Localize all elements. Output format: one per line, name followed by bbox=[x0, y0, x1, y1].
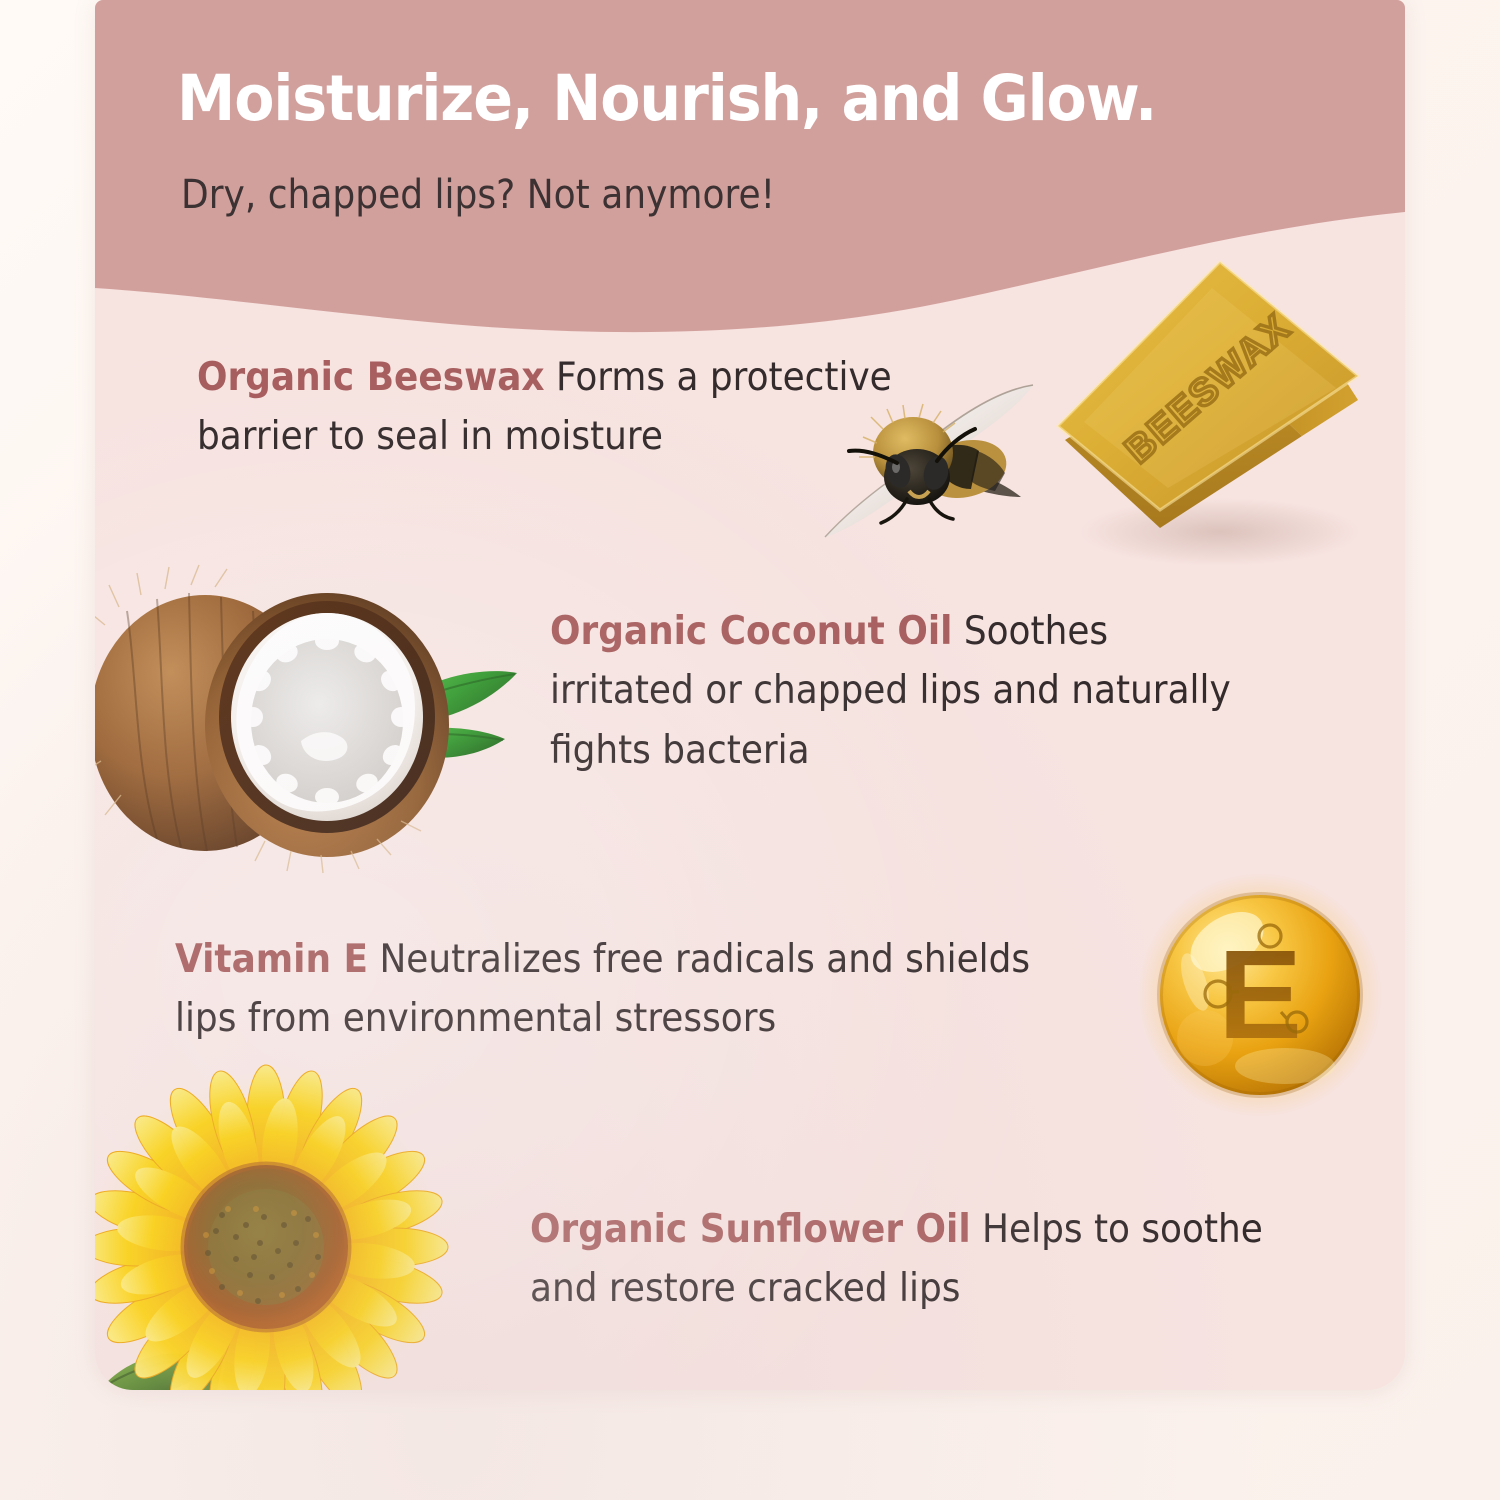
ingredient-beeswax-name: Organic Beeswax bbox=[197, 355, 545, 400]
ingredient-vitamin-e-name: Vitamin E bbox=[175, 937, 368, 982]
ingredient-coconut-text: Organic Coconut Oil Soothes irritated or… bbox=[550, 602, 1231, 780]
ingredient-vitamin-e: Vitamin E Neutralizes free radicals and … bbox=[175, 930, 1175, 1049]
beeswax-block-icon: BEESWAX bbox=[1040, 240, 1400, 570]
ingredient-sunflower-name: Organic Sunflower Oil bbox=[530, 1207, 971, 1252]
vitamin-e-droplet-icon: E bbox=[1135, 870, 1385, 1120]
content-card: Moisturize, Nourish, and Glow. Dry, chap… bbox=[95, 0, 1405, 1390]
coconut-icon bbox=[95, 555, 545, 875]
poster-canvas: Moisturize, Nourish, and Glow. Dry, chap… bbox=[0, 0, 1500, 1500]
page-subtitle: Dry, chapped lips? Not anymore! bbox=[181, 172, 775, 218]
bee-icon bbox=[825, 385, 1040, 540]
ingredient-sunflower-text: Organic Sunflower Oil Helps to soothe an… bbox=[530, 1200, 1266, 1319]
ingredient-coconut: Organic Coconut Oil Soothes irritated or… bbox=[550, 602, 1290, 780]
ingredient-coconut-name: Organic Coconut Oil bbox=[550, 609, 952, 654]
ingredient-sunflower: Organic Sunflower Oil Helps to soothe an… bbox=[530, 1200, 1330, 1319]
sunflower-icon bbox=[95, 1075, 480, 1390]
page-title: Moisturize, Nourish, and Glow. bbox=[177, 62, 1156, 135]
ingredient-vitamin-e-text: Vitamin E Neutralizes free radicals and … bbox=[175, 930, 1095, 1049]
